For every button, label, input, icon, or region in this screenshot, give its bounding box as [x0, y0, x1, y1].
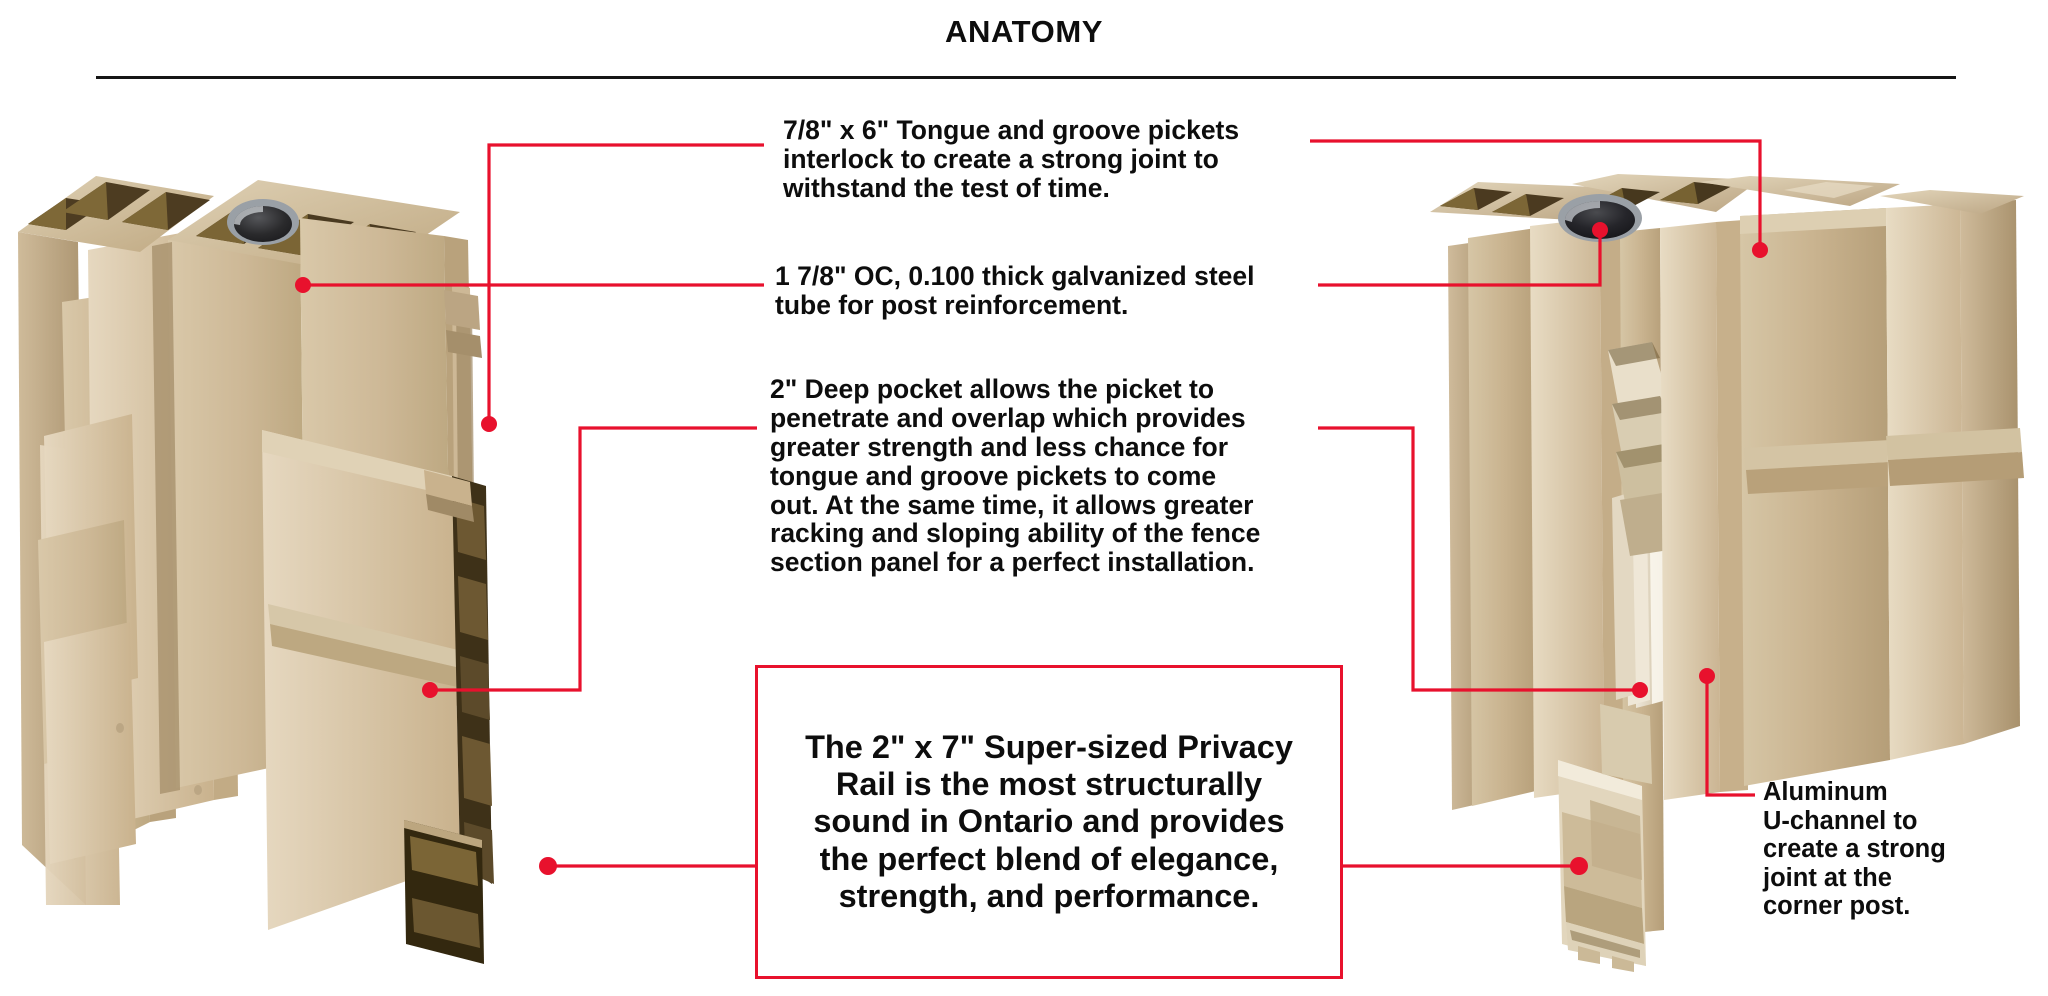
callout-privacy-rail-text: The 2" x 7" Super-sized Privacy Rail is … — [805, 729, 1293, 915]
note-deep-pocket: 2" Deep pocket allows the picket to pene… — [770, 375, 1315, 577]
callout-privacy-rail: The 2" x 7" Super-sized Privacy Rail is … — [755, 665, 1343, 979]
note-aluminum-u-channel: Aluminum U-channel to create a strong jo… — [1763, 778, 1993, 921]
note-steel-tube: 1 7/8" OC, 0.100 thick galvanized steel … — [775, 262, 1320, 320]
note-tongue-and-groove: 7/8" x 6" Tongue and groove pickets inte… — [783, 116, 1303, 203]
anatomy-diagram: ANATOMY — [0, 0, 2048, 996]
